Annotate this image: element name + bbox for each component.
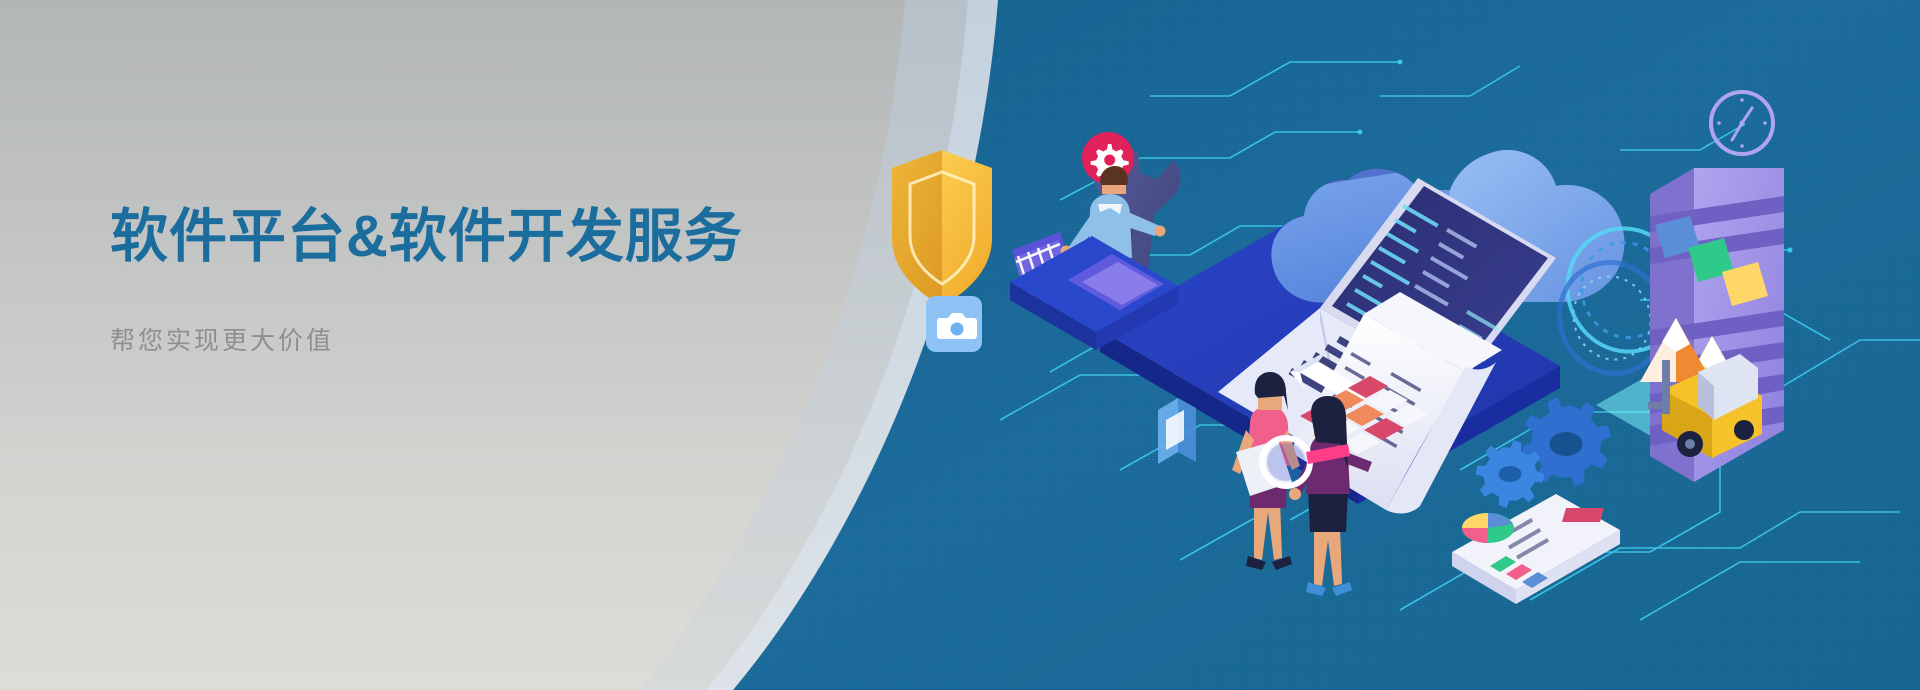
banner-text-block: 软件平台&软件开发服务 帮您实现更大价值 <box>110 205 743 357</box>
pie-chart-icon <box>1462 513 1514 543</box>
camera-icon <box>926 296 982 352</box>
news-card <box>1452 494 1620 604</box>
page-title: 软件平台&软件开发服务 <box>110 205 743 269</box>
page-subtitle: 帮您实现更大价值 <box>110 269 743 357</box>
clock-icon <box>1711 92 1773 154</box>
shield-icon <box>892 150 992 306</box>
side-tile-icon <box>1158 398 1196 464</box>
hero-banner: 软件平台&软件开发服务 帮您实现更大价值 <box>0 0 1920 690</box>
